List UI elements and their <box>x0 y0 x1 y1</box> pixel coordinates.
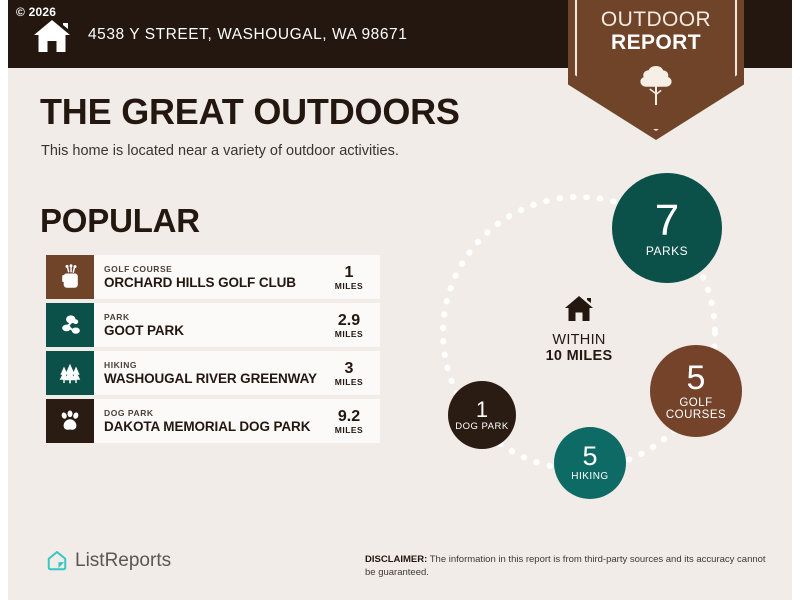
bubble-count: 5 <box>582 443 597 470</box>
list-item-name: GOOT PARK <box>104 323 326 338</box>
list-item-distance: 9.2 MILES <box>326 408 376 435</box>
list-item-texts: HIKING WASHOUGAL RIVER GREENWAY <box>104 360 326 386</box>
within-line-2: 10 MILES <box>524 348 634 364</box>
list-item[interactable]: HIKING WASHOUGAL RIVER GREENWAY 3 MILES <box>46 351 380 395</box>
list-item-texts: DOG PARK DAKOTA MEMORIAL DOG PARK <box>104 408 326 434</box>
distance-value: 3 <box>326 360 372 377</box>
list-item-category: HIKING <box>104 360 326 371</box>
distance-unit: MILES <box>326 425 372 435</box>
pine-trees-icon-chip <box>46 351 94 395</box>
bubble-parks[interactable]: 7 PARKS <box>612 173 722 283</box>
park-icon-chip <box>46 303 94 347</box>
copyright-text: © 2026 <box>16 5 56 19</box>
list-item-category: GOLF COURSE <box>104 264 326 275</box>
listreports-logo-icon <box>46 550 68 572</box>
distance-value: 2.9 <box>326 312 372 329</box>
distance-unit: MILES <box>326 377 372 387</box>
list-item-texts: GOLF COURSE ORCHARD HILLS GOLF CLUB <box>104 264 326 290</box>
outdoor-report-badge: OUTDOOR REPORT <box>568 0 744 140</box>
home-icon <box>32 18 72 54</box>
bubble-dog-park[interactable]: 1 DOG PARK <box>448 381 516 449</box>
list-item-category: PARK <box>104 312 326 323</box>
tree-icon <box>634 64 678 106</box>
golf-bag-icon-chip <box>46 255 94 299</box>
bubble-count: 7 <box>655 199 679 243</box>
distance-value: 1 <box>326 264 372 281</box>
disclaimer-label: DISCLAIMER: <box>365 554 427 565</box>
bubble-golf-courses[interactable]: 5 GOLF COURSES <box>650 345 742 437</box>
home-icon <box>564 295 594 323</box>
list-item-name: DAKOTA MEMORIAL DOG PARK <box>104 419 326 434</box>
golf-bag-icon <box>57 264 83 290</box>
list-item-name: ORCHARD HILLS GOLF CLUB <box>104 275 326 290</box>
paw-print-icon <box>57 408 83 434</box>
list-item-texts: PARK GOOT PARK <box>104 312 326 338</box>
park-icon <box>57 312 83 338</box>
list-item-name: WASHOUGAL RIVER GREENWAY <box>104 371 326 386</box>
list-item[interactable]: DOG PARK DAKOTA MEMORIAL DOG PARK 9.2 MI… <box>46 399 380 443</box>
bubble-label: GOLF COURSES <box>650 397 742 421</box>
list-item-distance: 3 MILES <box>326 360 376 387</box>
disclaimer: DISCLAIMER: The information in this repo… <box>365 553 777 579</box>
list-item-distance: 2.9 MILES <box>326 312 376 339</box>
within-10-miles-diagram: 7 PARKS 5 GOLF COURSES 5 HIKING 1 DOG PA… <box>428 165 788 510</box>
property-address: 4538 Y STREET, WASHOUGAL, WA 98671 <box>88 26 407 44</box>
pine-trees-icon <box>57 360 83 386</box>
listreports-logo[interactable]: ListReports <box>46 550 171 572</box>
bubble-label: HIKING <box>571 472 608 483</box>
list-item-body: GOLF COURSE ORCHARD HILLS GOLF CLUB 1 MI… <box>94 255 380 299</box>
diagram-center: WITHIN 10 MILES <box>524 295 634 364</box>
list-item[interactable]: PARK GOOT PARK 2.9 MILES <box>46 303 380 347</box>
list-item-body: HIKING WASHOUGAL RIVER GREENWAY 3 MILES <box>94 351 380 395</box>
paw-print-icon-chip <box>46 399 94 443</box>
distance-value: 9.2 <box>326 408 372 425</box>
within-line-1: WITHIN <box>524 332 634 348</box>
list-item-body: PARK GOOT PARK 2.9 MILES <box>94 303 380 347</box>
bubble-count: 1 <box>476 399 488 421</box>
list-item-distance: 1 MILES <box>326 264 376 291</box>
list-item[interactable]: GOLF COURSE ORCHARD HILLS GOLF CLUB 1 MI… <box>46 255 380 299</box>
bubble-label: DOG PARK <box>455 422 508 432</box>
bubble-label: PARKS <box>646 245 688 258</box>
popular-heading: POPULAR <box>40 202 200 240</box>
popular-list: GOLF COURSE ORCHARD HILLS GOLF CLUB 1 MI… <box>46 255 380 447</box>
badge-line-2: REPORT <box>568 31 744 55</box>
list-item-category: DOG PARK <box>104 408 326 419</box>
bubble-hiking[interactable]: 5 HIKING <box>554 427 626 499</box>
list-item-body: DOG PARK DAKOTA MEMORIAL DOG PARK 9.2 MI… <box>94 399 380 443</box>
badge-line-1: OUTDOOR <box>568 8 744 32</box>
distance-unit: MILES <box>326 329 372 339</box>
bubble-count: 5 <box>687 361 706 395</box>
page-title: THE GREAT OUTDOORS <box>40 91 460 133</box>
report-canvas: © 2026 4538 Y STREET, WASHOUGAL, WA 9867… <box>8 0 792 600</box>
distance-unit: MILES <box>326 281 372 291</box>
page-subtitle: This home is located near a variety of o… <box>41 143 399 159</box>
listreports-logo-text: ListReports <box>75 550 171 572</box>
